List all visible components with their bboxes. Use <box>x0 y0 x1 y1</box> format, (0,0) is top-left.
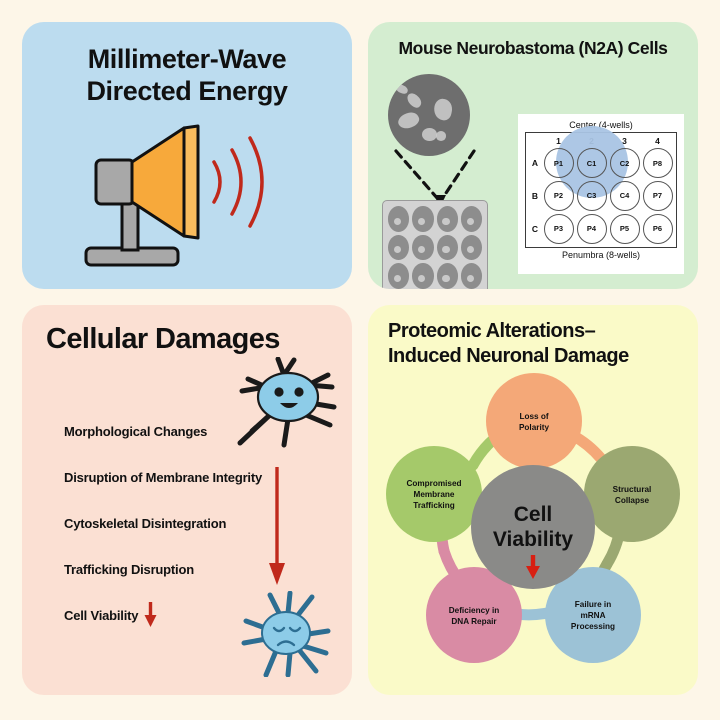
map-well: P5 <box>608 212 641 245</box>
12-well-plate-icon <box>382 200 488 289</box>
plate-well <box>461 235 482 261</box>
node-label-line: Collapse <box>615 496 650 505</box>
column-header: 4 <box>641 135 674 147</box>
map-well-label: C2 <box>610 148 640 178</box>
cycle-center-cell-viability: Cell Viability <box>471 465 595 589</box>
panel-n2a-cells-title: Mouse Neurobastoma (N2A) Cells <box>368 38 698 59</box>
plate-well <box>388 235 409 261</box>
plate-well <box>461 206 482 232</box>
node-label-line: Trafficking <box>413 501 454 510</box>
node-label-line: Polarity <box>519 423 549 432</box>
map-well: C2 <box>608 147 641 180</box>
map-well: C4 <box>608 180 641 213</box>
map-well: P2 <box>542 180 575 213</box>
damage-label: Disruption of Membrane Integrity <box>64 470 262 485</box>
plate-well <box>412 263 433 289</box>
damage-label: Cell Viability <box>64 608 138 623</box>
panel-cellular-damages: Cellular Damages Morpholog <box>22 305 352 695</box>
node-label-line: DNA Repair <box>451 617 497 626</box>
map-well-label: P2 <box>544 181 574 211</box>
map-well: P1 <box>542 147 575 180</box>
plate-layout-map: Center (4-wells) 1 2 3 4 A P1 C1 C2 P8 B… <box>518 114 684 274</box>
node-label-line: Compromised <box>406 479 461 488</box>
cycle-node-membrane-trafficking: Compromised Membrane Trafficking <box>386 446 482 542</box>
list-item: Trafficking Disruption <box>64 546 314 592</box>
map-well: P4 <box>575 212 608 245</box>
panel-proteomic-title: Proteomic Alterations– Induced Neuronal … <box>388 319 688 369</box>
node-label-line: Failure in <box>575 600 611 609</box>
cycle-node-structural-collapse: Structural Collapse <box>584 446 680 542</box>
list-item: Morphological Changes <box>64 408 314 454</box>
center-label-line: Viability <box>493 528 573 551</box>
horn-antenna-icon <box>74 120 304 270</box>
map-well-label: P5 <box>610 214 640 244</box>
row-header: A <box>528 147 542 180</box>
proteomic-title-line2: Induced Neuronal Damage <box>388 345 629 367</box>
map-well-label: P1 <box>544 148 574 178</box>
grid-corner-spacer <box>528 135 542 147</box>
plate-well <box>412 235 433 261</box>
mmwave-title-line2: Directed Energy <box>86 76 287 106</box>
cycle-node-loss-of-polarity: Loss of Polarity <box>486 373 582 469</box>
plate-well <box>412 206 433 232</box>
map-well: P6 <box>641 212 674 245</box>
panel-millimeter-wave-title: Millimeter-Wave Directed Energy <box>22 44 352 108</box>
list-item: Cytoskeletal Disintegration <box>64 500 314 546</box>
plate-well <box>461 263 482 289</box>
plate-well <box>437 263 458 289</box>
damage-label: Trafficking Disruption <box>64 562 194 577</box>
panel-proteomic-alterations: Proteomic Alterations– Induced Neuronal … <box>368 305 698 695</box>
row-header: C <box>528 212 542 245</box>
node-label-line: Loss of <box>519 412 548 421</box>
plate-well <box>437 235 458 261</box>
map-well: P8 <box>641 147 674 180</box>
map-well-label: C4 <box>610 181 640 211</box>
list-item: Disruption of Membrane Integrity <box>64 454 314 500</box>
node-label-line: Membrane <box>414 490 455 499</box>
map-well: P7 <box>641 180 674 213</box>
map-well-label: P4 <box>577 214 607 244</box>
proteomic-cycle-diagram: Loss of Polarity Structural Collapse Fai… <box>376 369 690 687</box>
map-well-label: P8 <box>643 148 673 178</box>
map-well: P3 <box>542 212 575 245</box>
map-well-label: P6 <box>643 214 673 244</box>
map-well-label: P3 <box>544 214 574 244</box>
mmwave-title-line1: Millimeter-Wave <box>88 44 287 74</box>
panel-millimeter-wave: Millimeter-Wave Directed Energy <box>22 22 352 289</box>
row-header: B <box>528 180 542 213</box>
damage-label: Cytoskeletal Disintegration <box>64 516 226 531</box>
plate-well <box>437 206 458 232</box>
map-well: C1 <box>575 147 608 180</box>
damage-list: Morphological Changes Disruption of Memb… <box>64 408 314 638</box>
map-well-label: C3 <box>577 181 607 211</box>
map-well-label: P7 <box>643 181 673 211</box>
list-item: Cell Viability <box>64 592 314 638</box>
graphical-abstract: Millimeter-Wave Directed Energy Mouse Ne… <box>0 0 720 720</box>
panel-cellular-damages-title: Cellular Damages <box>46 323 280 356</box>
node-label-line: Deficiency in <box>449 606 500 615</box>
panel-n2a-cells: Mouse Neurobastoma (N2A) Cells <box>368 22 698 289</box>
node-label-line: Structural <box>613 485 652 494</box>
center-label-line: Cell <box>514 503 553 526</box>
node-label-line: mRNA <box>580 611 605 620</box>
plate-well-grid: 1 2 3 4 A P1 C1 C2 P8 B P2 C3 C4 P7 C P3… <box>525 132 677 248</box>
decrease-arrow-icon <box>144 602 157 628</box>
node-label-line: Processing <box>571 622 615 631</box>
proteomic-title-line1: Proteomic Alterations– <box>388 320 595 342</box>
map-well: C3 <box>575 180 608 213</box>
damage-label: Morphological Changes <box>64 424 207 439</box>
plate-well <box>388 206 409 232</box>
plate-well <box>388 263 409 289</box>
map-well-label: C1 <box>577 148 607 178</box>
microscopy-field-icon <box>388 74 470 156</box>
plate-map-bottom-caption: Penumbra (8-wells) <box>562 248 640 262</box>
